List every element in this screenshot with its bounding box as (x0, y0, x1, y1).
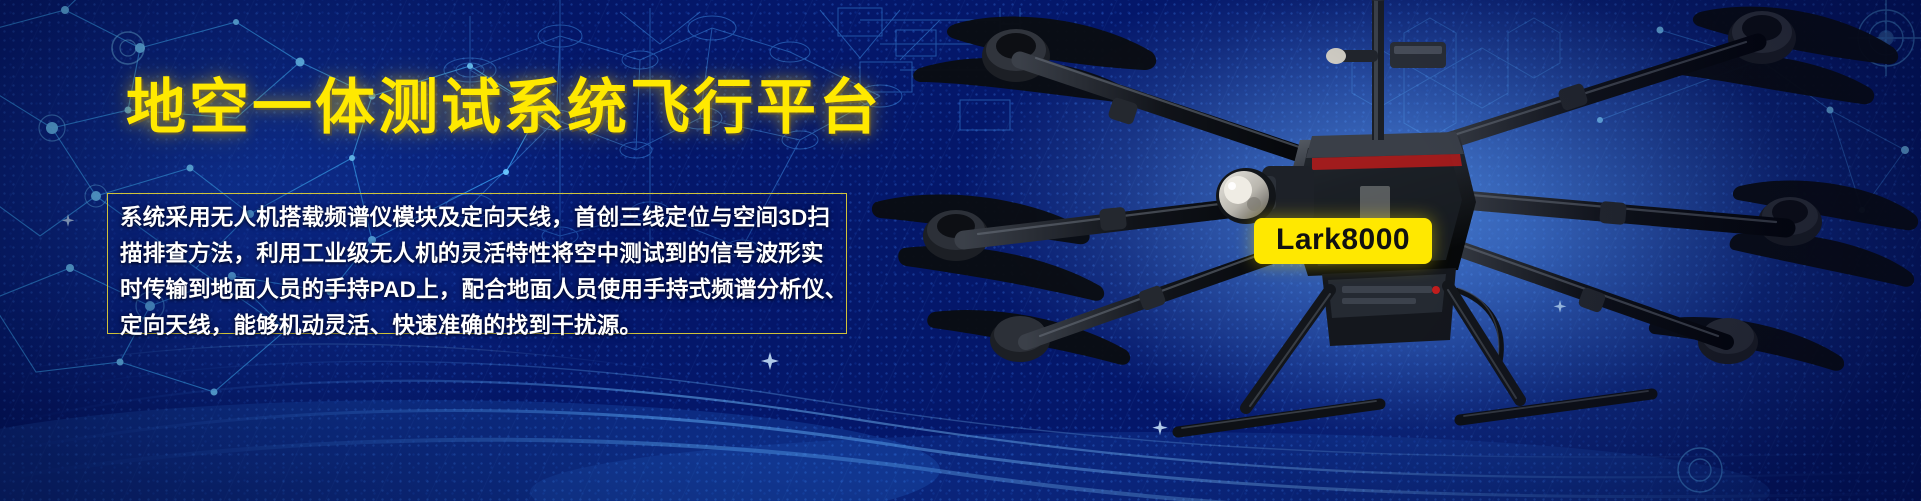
product-model-badge: Lark8000 (1254, 218, 1432, 264)
description-line-3: 时传输到地面人员的手持PAD上，配合地面人员使用手持式频谱分析仪、 (120, 272, 836, 308)
description-text: 系统采用无人机搭载频谱仪模块及定向天线，首创三线定位与空间3D扫 描排查方法，利… (120, 200, 836, 344)
description-line-4: 定向天线，能够机动灵活、快速准确的找到干扰源。 (120, 308, 836, 344)
description-box: 系统采用无人机搭载频谱仪模块及定向天线，首创三线定位与空间3D扫 描排查方法，利… (107, 193, 847, 334)
page-title: 地空一体测试系统飞行平台 (126, 78, 882, 138)
description-line-2: 描排查方法，利用工业级无人机的灵活特性将空中测试到的信号波形实 (120, 236, 836, 272)
description-line-1: 系统采用无人机搭载频谱仪模块及定向天线，首创三线定位与空间3D扫 (120, 200, 836, 236)
promo-banner: 地空一体测试系统飞行平台 系统采用无人机搭载频谱仪模块及定向天线，首创三线定位与… (0, 0, 1921, 501)
